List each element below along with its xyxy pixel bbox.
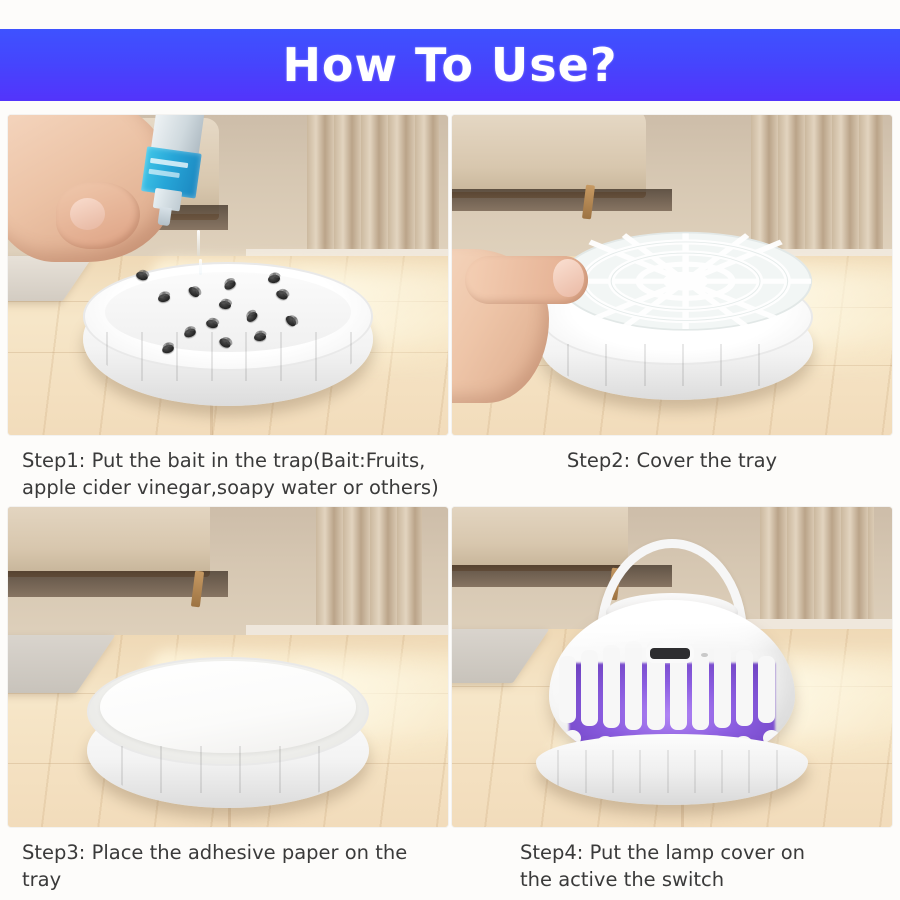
step-card-2: Step2: Cover the tray <box>452 115 892 474</box>
page-title: How To Use? <box>282 42 617 88</box>
step-2-photo <box>452 115 892 435</box>
step-4-caption-line-1: Step4: Put the lamp cover on <box>520 839 892 866</box>
steps-grid: Step1: Put the bait in the trap(Bait:Fru… <box>0 112 900 900</box>
step-4-photo <box>452 507 892 827</box>
adhesive-paper <box>100 661 355 754</box>
step-2-caption: Step2: Cover the tray <box>452 447 892 474</box>
step-1-photo <box>8 115 448 435</box>
step-1-caption-line-2: apple cider vinegar,soapy water or other… <box>22 474 448 501</box>
step-4-caption: Step4: Put the lamp cover on the active … <box>452 839 892 893</box>
step-card-1: Step1: Put the bait in the trap(Bait:Fru… <box>8 115 448 501</box>
step-3-caption: Step3: Place the adhesive paper on the t… <box>8 839 448 893</box>
usb-c-port[interactable] <box>650 648 690 659</box>
lattice-grid-cover <box>558 230 813 332</box>
step-3-photo <box>8 507 448 827</box>
step-card-3: Step3: Place the adhesive paper on the t… <box>8 507 448 893</box>
header-banner: How To Use? <box>0 29 900 101</box>
how-to-use-infographic: How To Use? <box>0 0 900 900</box>
step-card-4: Step4: Put the lamp cover on the active … <box>452 507 892 893</box>
step-1-caption: Step1: Put the bait in the trap(Bait:Fru… <box>8 447 448 501</box>
step-4-caption-line-2: the active the switch <box>520 866 892 893</box>
step-1-caption-line-1: Step1: Put the bait in the trap(Bait:Fru… <box>22 447 448 474</box>
